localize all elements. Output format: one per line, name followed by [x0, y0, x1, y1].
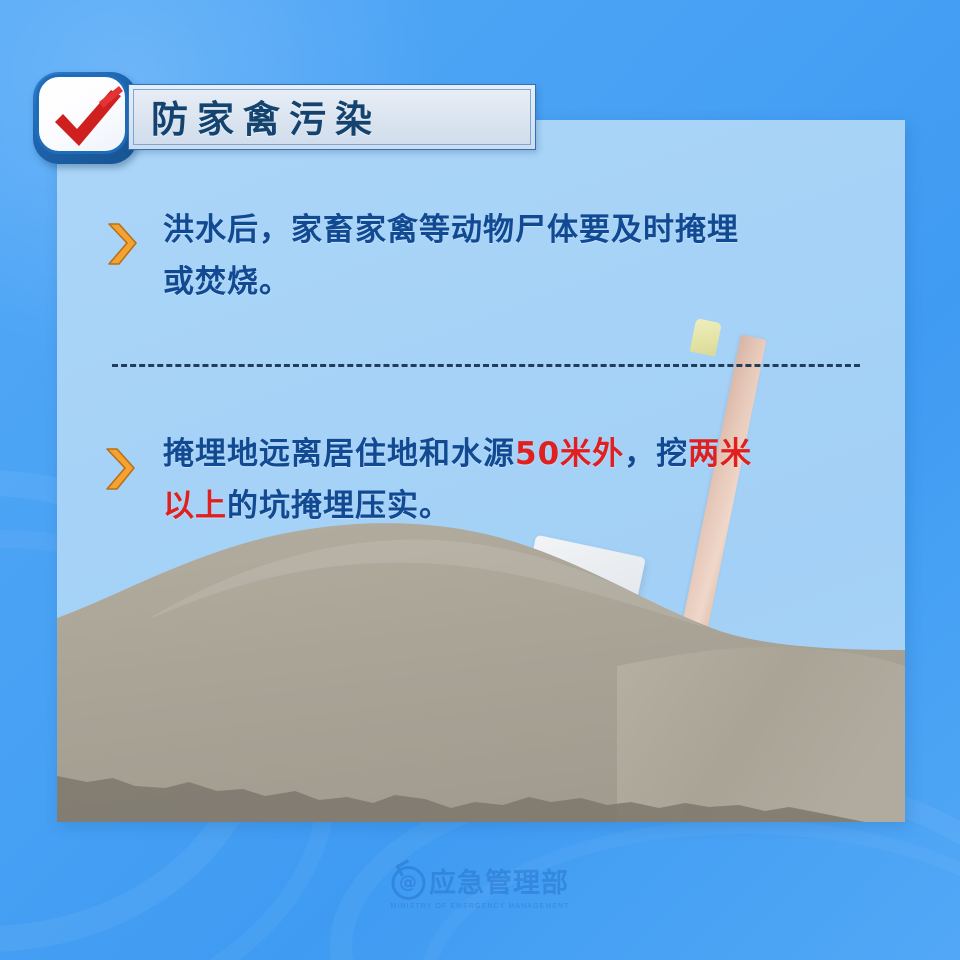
shovel-handle-tip — [690, 318, 722, 357]
text-segment: 的坑掩埋压实。 — [227, 488, 451, 524]
bullet-2-line-2: 以上的坑掩埋压实。 — [163, 480, 451, 532]
text-segment: 洪水后，家畜家禽等动物尸体要及时掩埋 — [163, 212, 739, 248]
org-name-cn: 应急管理部 — [429, 870, 569, 897]
check-mark-icon — [33, 72, 137, 164]
ministry-watermark-logo: @ 应急管理部 MINISTRY OF EMERGENCY MANAGEMENT — [390, 866, 569, 910]
bullet-1-line-1: 洪水后，家畜家禽等动物尸体要及时掩埋 — [163, 204, 739, 256]
text-segment-highlight: 50米外 — [515, 436, 624, 472]
section-title-bar: 防家禽污染 — [128, 84, 536, 150]
at-symbol-icon: @ — [391, 866, 425, 900]
text-segment: ，挖 — [624, 436, 688, 472]
bullet-2-line-1: 掩埋地远离居住地和水源50米外，挖两米 — [163, 428, 752, 480]
soil-mound — [57, 500, 905, 822]
text-segment-highlight: 两米 — [688, 436, 752, 472]
poster-canvas: 防家禽污染 洪水后，家畜家禽等动物尸体要及时掩埋 或焚烧。 掩埋地远离居住地和水… — [0, 0, 960, 960]
text-segment-highlight: 以上 — [163, 488, 227, 524]
logo-line: @ 应急管理部 — [391, 866, 569, 900]
org-name-en: MINISTRY OF EMERGENCY MANAGEMENT — [390, 903, 569, 910]
section-divider — [112, 364, 860, 367]
bullet-1-line-2: 或焚烧。 — [163, 256, 291, 308]
background-wave-arc — [420, 820, 960, 960]
chevron-right-icon — [103, 447, 137, 491]
text-segment: 掩埋地远离居住地和水源 — [163, 436, 515, 472]
page-title: 防家禽污染 — [151, 89, 381, 143]
text-segment: 或焚烧。 — [163, 264, 291, 300]
chevron-right-icon — [105, 222, 139, 266]
